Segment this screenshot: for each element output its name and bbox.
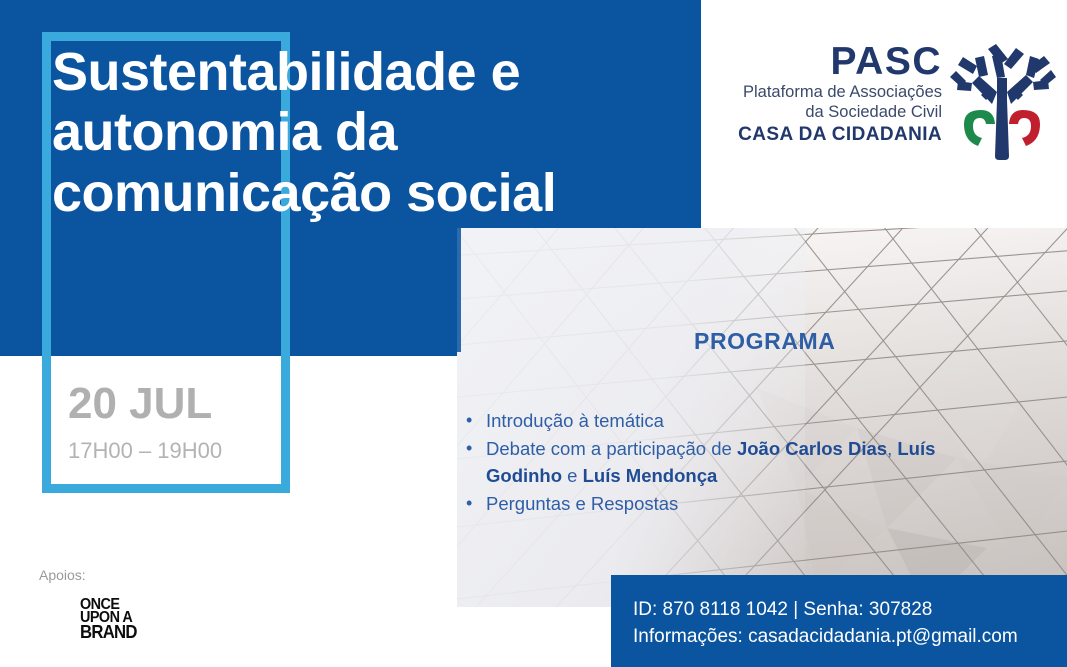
pasc-subtitle-1: Plataforma de Associações xyxy=(738,84,942,101)
tree-icon xyxy=(948,44,1056,162)
event-date: 20 JUL xyxy=(68,382,278,426)
title-line-1: Sustentabilidade e xyxy=(52,42,692,102)
sponsors-label: Apoios: xyxy=(39,567,86,583)
list-item: • Introdução à temática xyxy=(486,408,1006,434)
pasc-acronym: PASC xyxy=(738,42,942,81)
meeting-id-line: ID: 870 8118 1042 | Senha: 307828 xyxy=(633,597,1057,624)
event-time-range: 17H00 – 19H00 xyxy=(68,440,278,462)
program-items: • Introdução à temática • Debate com a p… xyxy=(464,408,1006,517)
flyer-canvas: Sustentabilidade e autonomia da comunica… xyxy=(0,0,1067,667)
once-upon-a-brand-logo: ONCE UPON A BRAND xyxy=(80,598,158,644)
list-item: • Debate com a participação de João Carl… xyxy=(486,436,1006,489)
program-heading: PROGRAMA xyxy=(694,328,836,355)
list-item-text: Debate com a participação de João Carlos… xyxy=(486,438,935,485)
bullet-icon: • xyxy=(466,491,472,517)
pasc-logo: PASC Plataforma de Associações da Socied… xyxy=(726,42,1056,172)
bullet-icon: • xyxy=(466,436,472,462)
bullet-icon: • xyxy=(466,408,472,434)
once-upon-a-brand-wordmark: ONCE UPON A BRAND xyxy=(80,598,153,640)
meeting-info-box: ID: 870 8118 1042 | Senha: 307828 Inform… xyxy=(611,575,1067,667)
overlay-left-rule xyxy=(457,228,461,352)
program-list: • Introdução à temática • Debate com a p… xyxy=(464,408,1006,519)
list-item-text: Perguntas e Respostas xyxy=(486,493,678,514)
pasc-subtitle-2: da Sociedade Civil xyxy=(738,104,942,121)
list-item-text: Introdução à temática xyxy=(486,410,664,431)
pasc-logo-text: PASC Plataforma de Associações da Socied… xyxy=(738,42,942,144)
list-item: • Perguntas e Respostas xyxy=(486,491,1006,517)
contact-line[interactable]: Informações: casadacidadania.pt@gmail.co… xyxy=(633,624,1057,651)
meeting-info-inner: ID: 870 8118 1042 | Senha: 307828 Inform… xyxy=(633,597,1057,651)
event-date-block: 20 JUL 17H00 – 19H00 xyxy=(68,382,278,462)
pasc-subtitle-3: CASA DA CIDADANIA xyxy=(738,125,942,144)
title-line-3: comunicação social xyxy=(52,163,692,223)
page-title: Sustentabilidade e autonomia da comunica… xyxy=(52,42,692,223)
oub-row-3: BRAND xyxy=(80,625,153,640)
title-line-2: autonomia da xyxy=(52,102,692,162)
